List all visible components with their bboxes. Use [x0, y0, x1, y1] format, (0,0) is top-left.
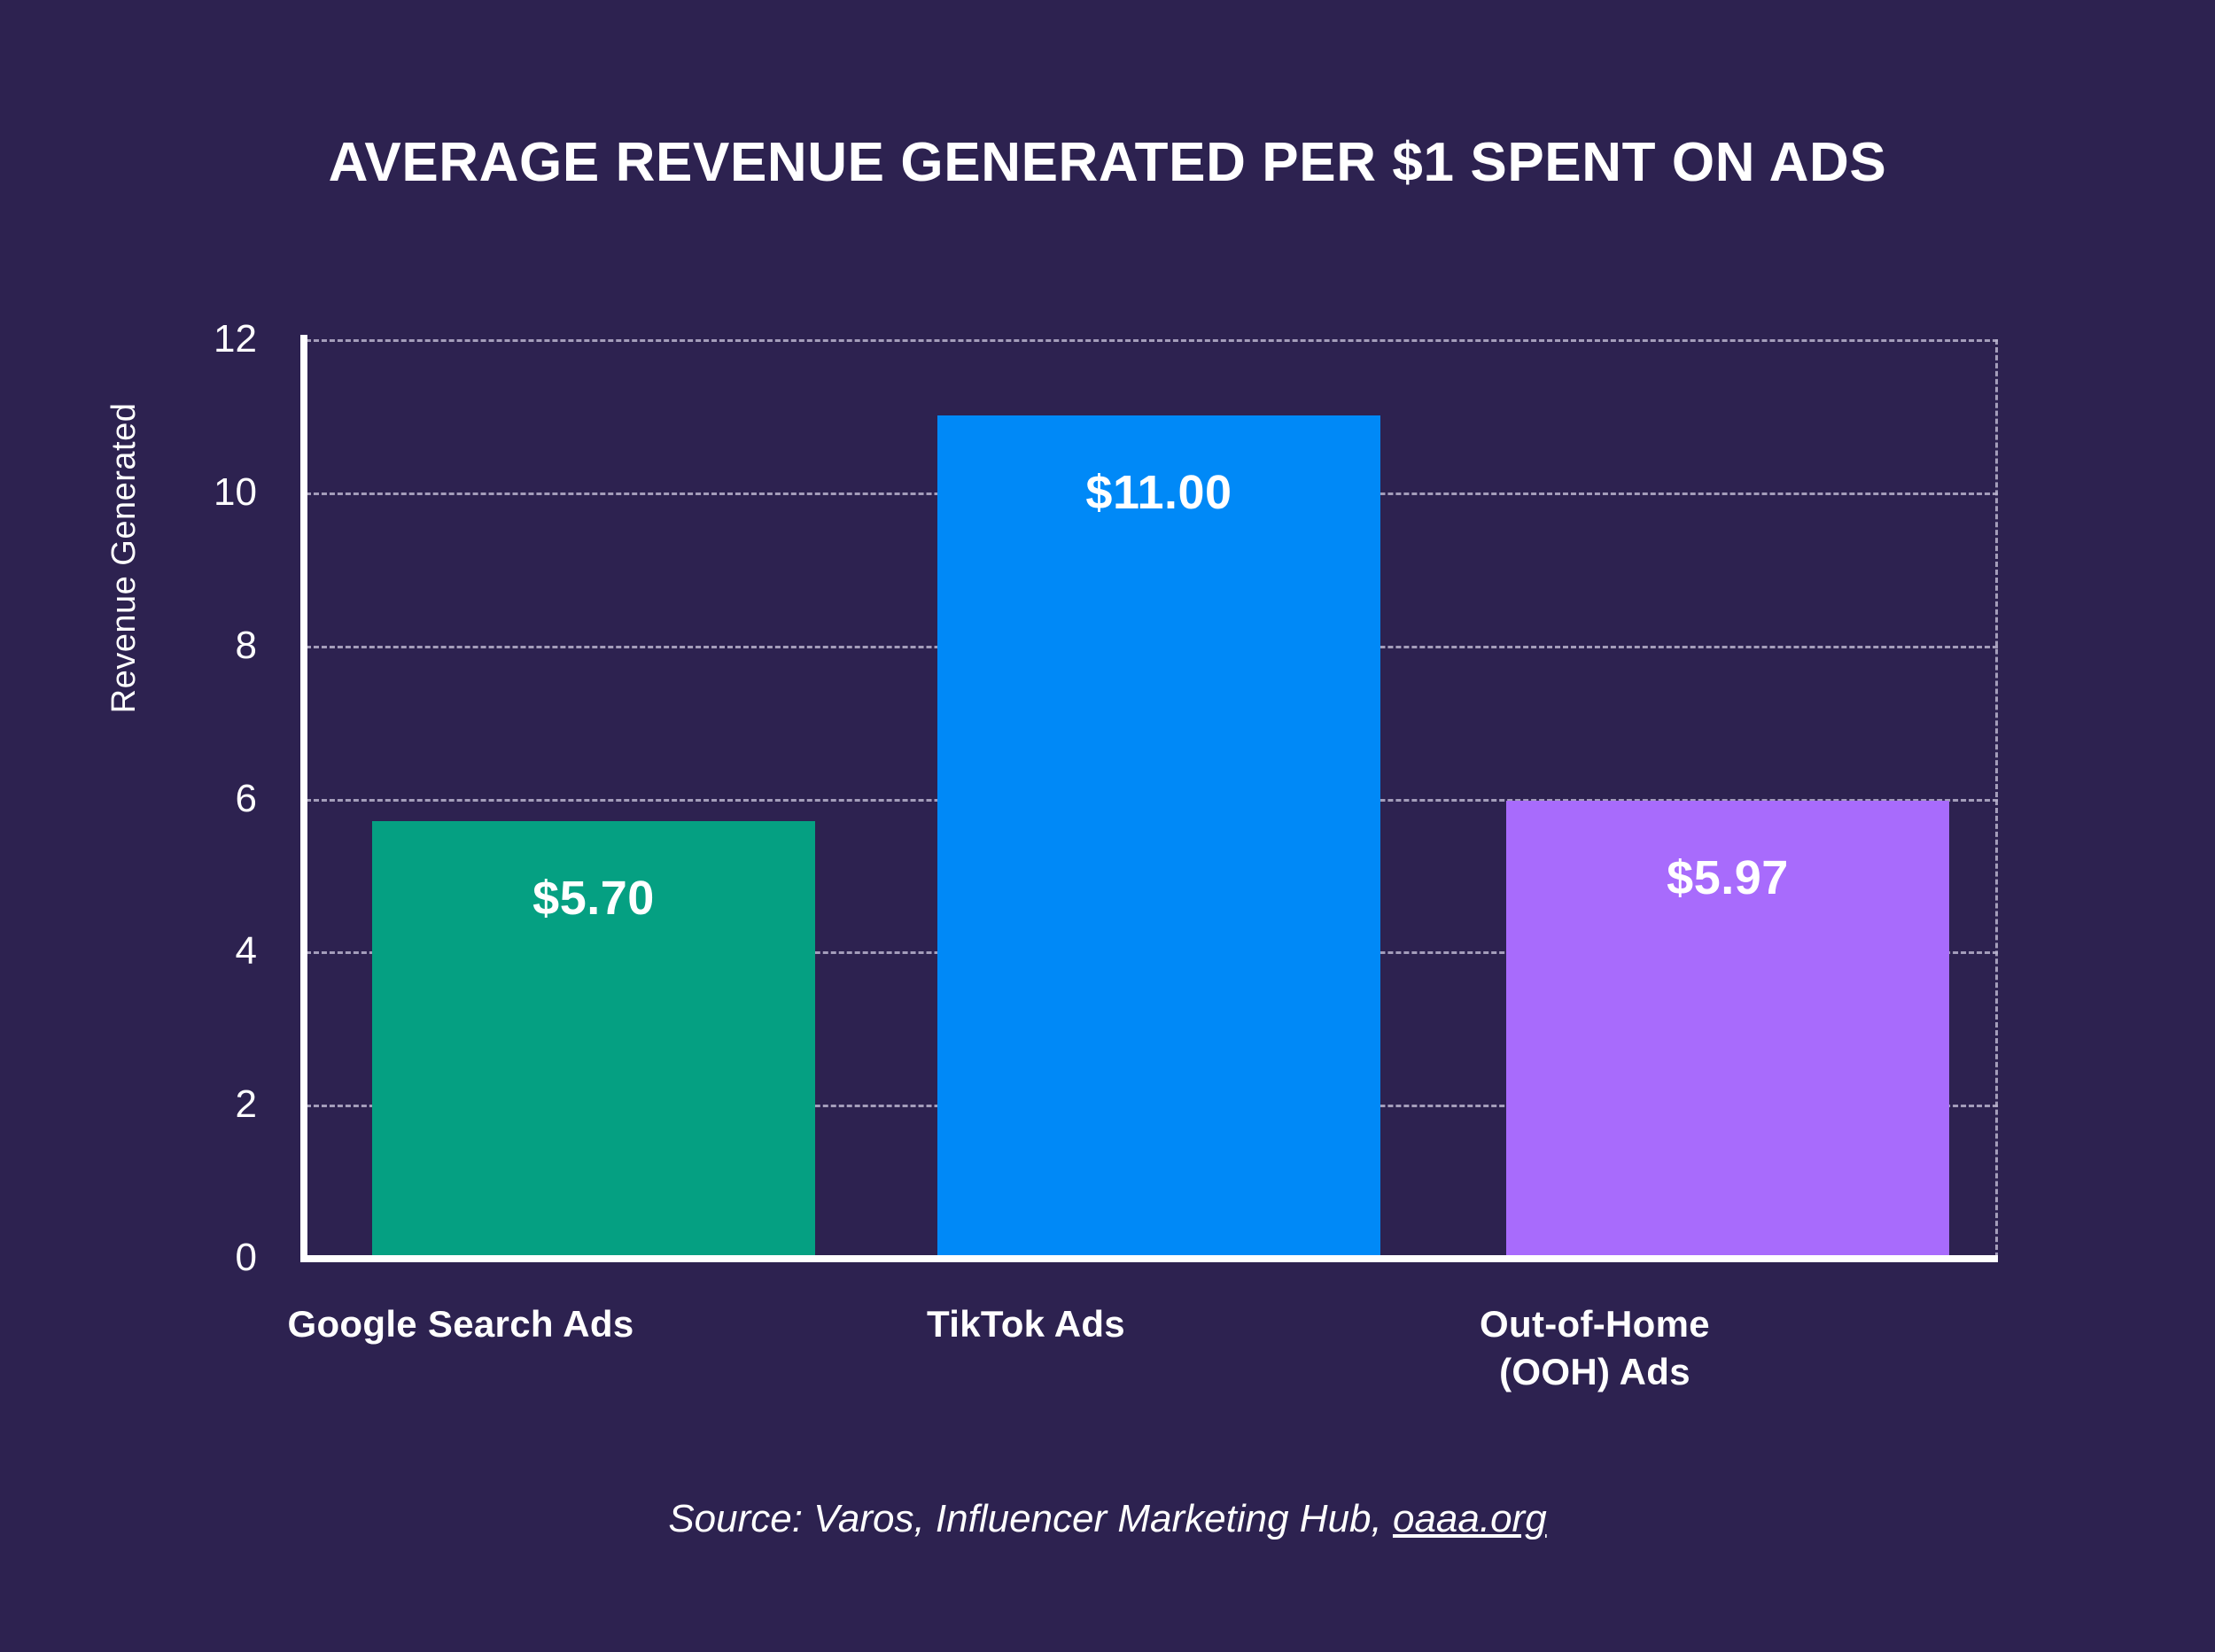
x-tick-label-line1: TikTok Ads	[716, 1300, 1336, 1348]
y-tick-label-4: 4	[27, 932, 257, 971]
source-link[interactable]: oaaa.org	[1393, 1497, 1547, 1540]
gridline-12	[306, 339, 1998, 342]
x-tick-label-out-of-home-ads: Out-of-Home (OOH) Ads	[1285, 1300, 1905, 1396]
y-axis-title: Revenue Generated	[97, 328, 151, 788]
y-tick-label-8: 8	[27, 626, 257, 665]
source-note: Source: Varos, Influencer Marketing Hub,…	[0, 1497, 2215, 1541]
bar-value-tiktok-ads: $11.00	[937, 465, 1380, 520]
y-tick-label-0: 0	[27, 1238, 257, 1277]
bar-value-out-of-home-ads: $5.97	[1506, 850, 1949, 905]
source-prefix: Source: Varos, Influencer Marketing Hub,	[668, 1497, 1393, 1540]
x-tick-label-google-search-ads: Google Search Ads	[151, 1300, 771, 1348]
x-tick-label-line1: Google Search Ads	[151, 1300, 771, 1348]
bar-value-google-search-ads: $5.70	[372, 871, 815, 926]
x-tick-label-line2: (OOH) Ads	[1285, 1348, 1905, 1396]
bar-out-of-home-ads[interactable]: $5.97	[1506, 801, 1949, 1258]
x-tick-label-tiktok-ads: TikTok Ads	[716, 1300, 1336, 1348]
y-tick-label-10: 10	[27, 473, 257, 512]
y-tick-label-2: 2	[27, 1085, 257, 1124]
chart-title: AVERAGE REVENUE GENERATED PER $1 SPENT O…	[0, 131, 2215, 194]
bar-tiktok-ads[interactable]: $11.00	[937, 415, 1380, 1258]
plot-right-boundary	[1995, 339, 1998, 1258]
bar-google-search-ads[interactable]: $5.70	[372, 821, 815, 1258]
y-tick-label-12: 12	[27, 320, 257, 359]
plot-area: $5.70 $11.00 $5.97	[306, 339, 1998, 1258]
y-tick-label-6: 6	[27, 779, 257, 818]
chart-figure: AVERAGE REVENUE GENERATED PER $1 SPENT O…	[0, 0, 2215, 1652]
y-axis-spine	[300, 335, 307, 1262]
x-axis-spine	[300, 1255, 1998, 1262]
x-tick-label-line1: Out-of-Home	[1285, 1300, 1905, 1348]
